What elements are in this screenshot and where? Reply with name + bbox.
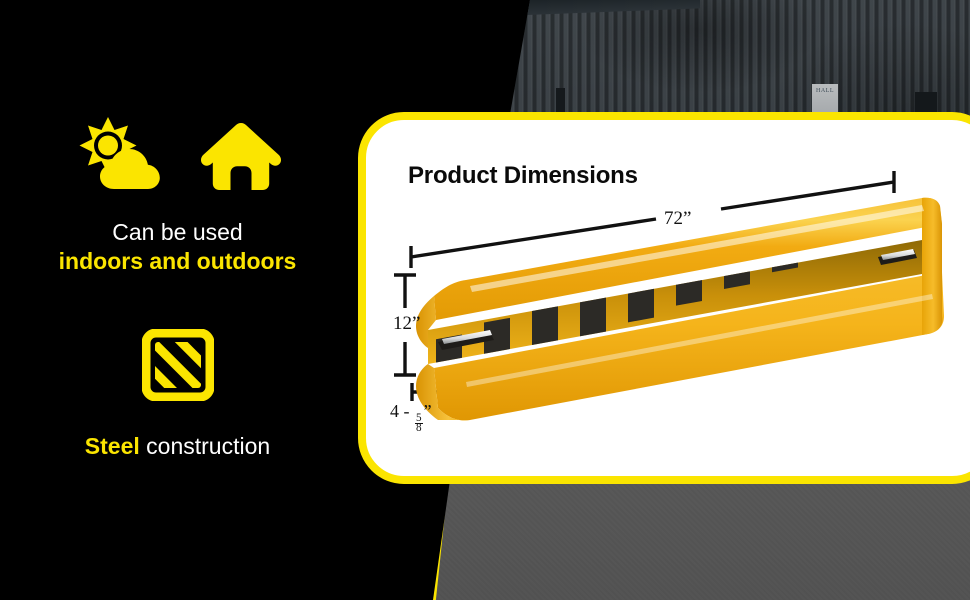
feature-steel-construction: Steel construction bbox=[0, 334, 355, 461]
infographic-stage: HALL bbox=[0, 0, 970, 600]
depth-denominator: 8 bbox=[415, 424, 423, 433]
feature-caption: Steel construction bbox=[0, 432, 355, 461]
house-icon bbox=[200, 121, 282, 196]
feature-icon-row bbox=[0, 334, 355, 406]
caption-line-accent: indoors and outdoors bbox=[0, 247, 355, 276]
guard-rail-illustration bbox=[366, 120, 970, 484]
feature-indoor-outdoor: Can be used indoors and outdoors bbox=[0, 112, 355, 276]
depth-fraction: 58 bbox=[415, 414, 423, 434]
feature-icon-row bbox=[0, 112, 355, 196]
depth-whole: 4 - bbox=[390, 401, 414, 421]
height-label: 12” bbox=[393, 313, 420, 335]
dimension-drawing: 72” 12” 4 - 58” bbox=[366, 120, 970, 484]
depth-label: 4 - 58” bbox=[390, 401, 432, 434]
length-label: 72” bbox=[664, 208, 691, 230]
depth-unit: ” bbox=[424, 401, 432, 421]
product-dimensions-card: Product Dimensions bbox=[358, 112, 970, 484]
caption-rest: construction bbox=[140, 433, 270, 459]
feature-caption: Can be used indoors and outdoors bbox=[0, 218, 355, 276]
sun-cloud-icon bbox=[74, 115, 166, 196]
caption-accent-word: Steel bbox=[85, 433, 140, 459]
steel-plate-icon bbox=[142, 329, 214, 406]
caption-line-primary: Can be used bbox=[0, 218, 355, 247]
